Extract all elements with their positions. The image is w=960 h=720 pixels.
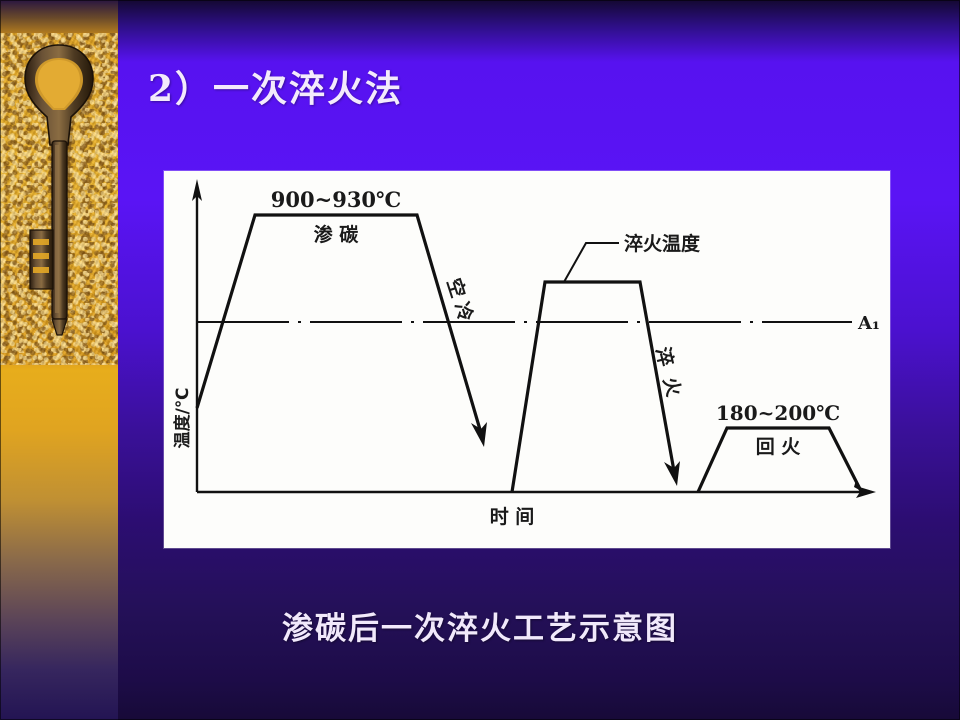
- process-diagram-panel: 温度/℃ 时 间 900~930℃ 渗 碳 空冷 淬火温度 淬火 A₁ 180~…: [164, 171, 890, 548]
- slide-title: 2）一次淬火法: [148, 60, 403, 112]
- x-axis-label: 时 间: [490, 506, 535, 528]
- a1-line-label: A₁: [857, 313, 880, 334]
- slide-canvas: 2）一次淬火法: [0, 0, 960, 720]
- heat-treatment-process-chart: 温度/℃ 时 间 900~930℃ 渗 碳 空冷 淬火温度 淬火 A₁ 180~…: [164, 171, 890, 548]
- carburizing-temperature-label: 900~930℃: [271, 187, 401, 212]
- y-axis: [192, 179, 202, 492]
- quench-temp-leader-line: [564, 243, 619, 282]
- figure-caption: 渗碳后一次淬火工艺示意图: [0, 603, 960, 648]
- x-axis: [197, 486, 876, 498]
- tempering-process-label: 回 火: [756, 436, 802, 458]
- antique-key-svg: [0, 33, 118, 365]
- carburizing-process-label: 渗 碳: [314, 223, 360, 246]
- tempering-temperature-label: 180~200℃: [716, 401, 840, 425]
- carburizing-curve: [197, 215, 487, 447]
- quenching-temperature-label: 淬火温度: [624, 232, 701, 255]
- y-axis-label: 温度/℃: [172, 388, 193, 449]
- quenching-curve: [512, 282, 680, 492]
- antique-key-image: [0, 33, 118, 365]
